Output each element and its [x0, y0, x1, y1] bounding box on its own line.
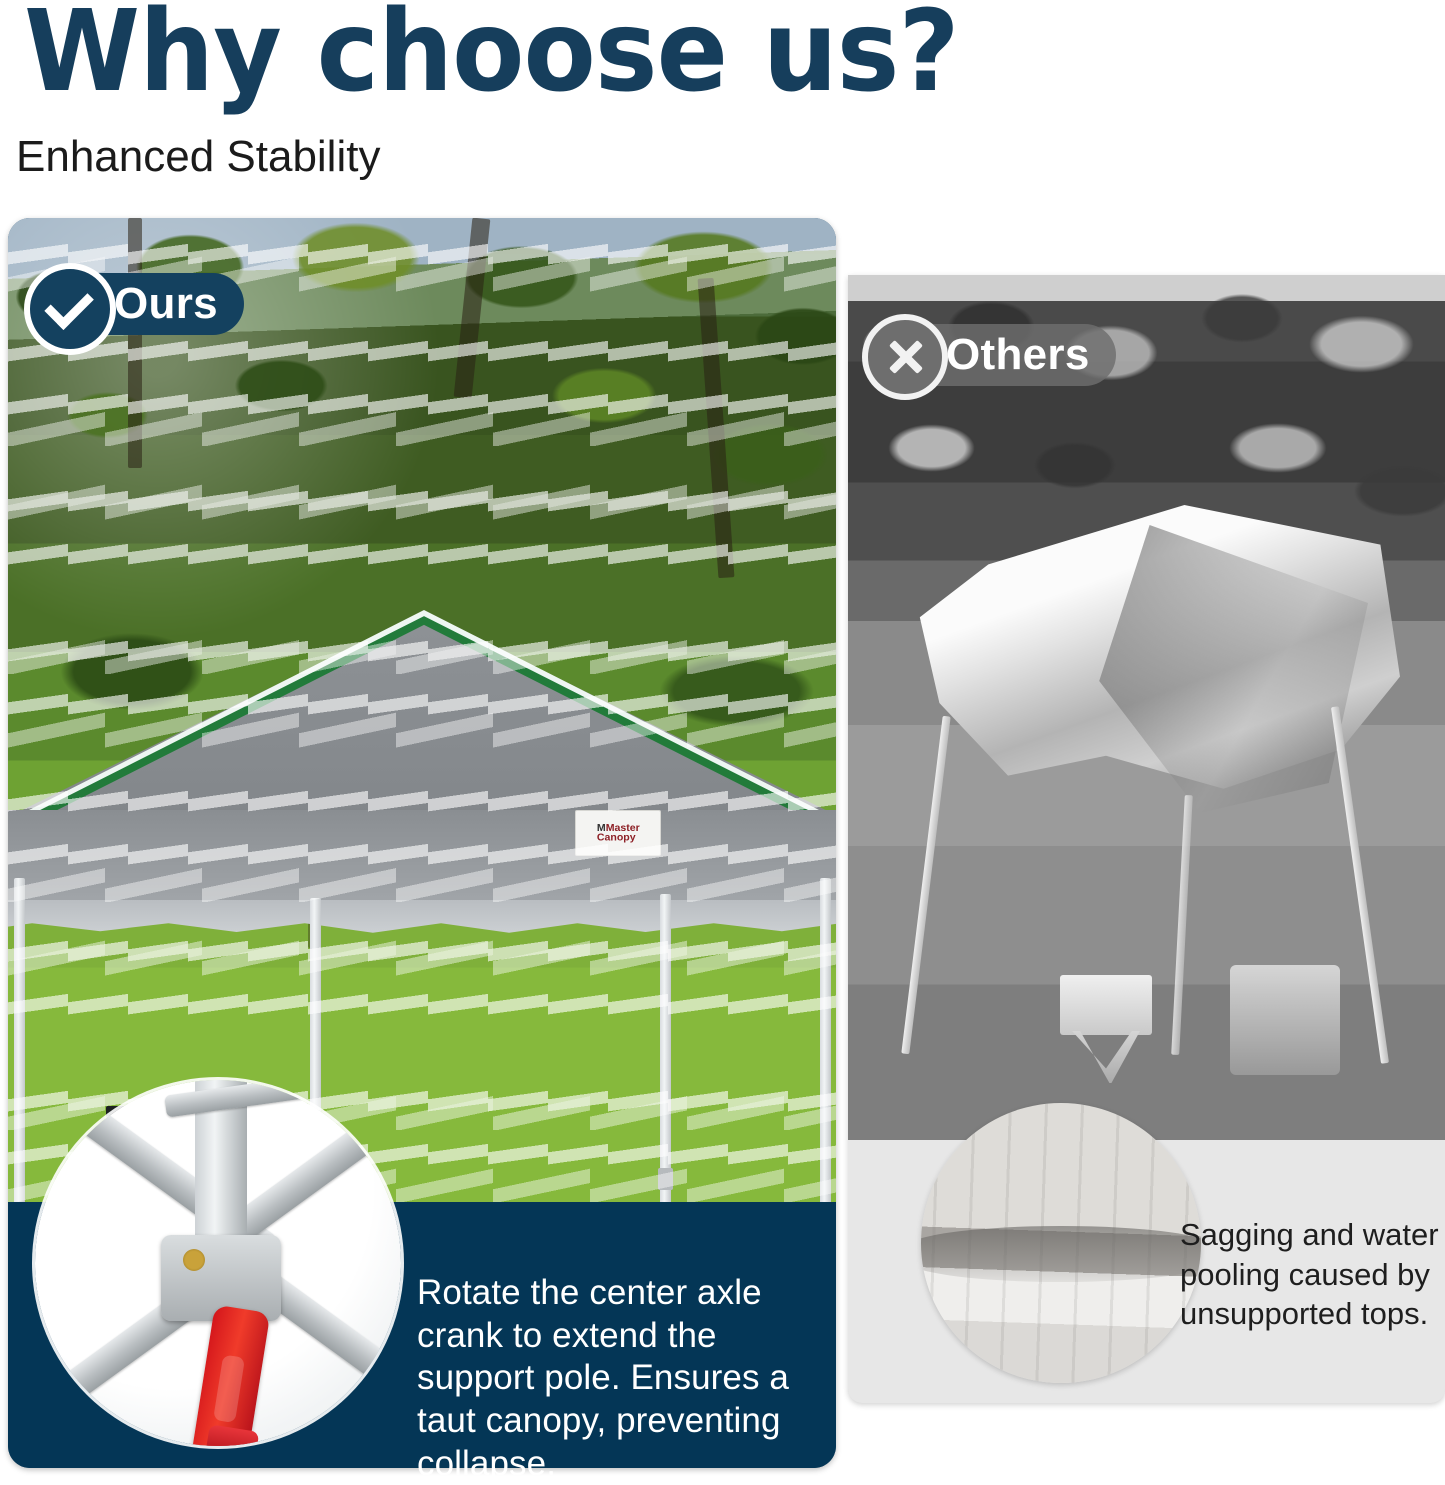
- x-circle-icon: [862, 314, 948, 400]
- folding-side-table: [1060, 975, 1152, 1035]
- ours-photo: MMaster Canopy: [8, 218, 836, 1204]
- sagging-fabric-inset: [921, 1103, 1201, 1383]
- others-caption-text: Sagging and water pooling caused by unsu…: [1180, 1215, 1442, 1334]
- canopy-leg: [820, 878, 831, 1204]
- check-mark-icon: [44, 280, 93, 329]
- page-title: Why choose us?: [24, 0, 1246, 113]
- tree-trunk: [128, 218, 142, 468]
- crank-handle: [192, 1305, 271, 1446]
- hub-screw: [183, 1249, 205, 1271]
- water-pooling-shadow: [921, 1226, 1201, 1282]
- badge-ours-label: Ours: [114, 282, 218, 326]
- badge-others-label: Others: [946, 333, 1090, 377]
- brand-logo: MMaster Canopy: [575, 810, 661, 856]
- ours-caption-text: Rotate the center axle crank to extend t…: [417, 1272, 817, 1485]
- others-photo: [848, 275, 1445, 1140]
- canopy-leg: [14, 878, 25, 1204]
- badge-ours: Ours: [28, 273, 244, 335]
- check-circle-icon: [24, 263, 116, 355]
- brand-logo-word-two: Canopy: [597, 832, 636, 844]
- x-mark-icon: [885, 337, 925, 377]
- canopy-foot: [658, 1168, 673, 1190]
- badge-others: Others: [866, 324, 1116, 386]
- page-subtitle: Enhanced Stability: [16, 132, 380, 182]
- canopy-leg: [660, 894, 671, 1204]
- crank-detail-inset: [35, 1080, 401, 1446]
- folding-chair: [1230, 965, 1340, 1075]
